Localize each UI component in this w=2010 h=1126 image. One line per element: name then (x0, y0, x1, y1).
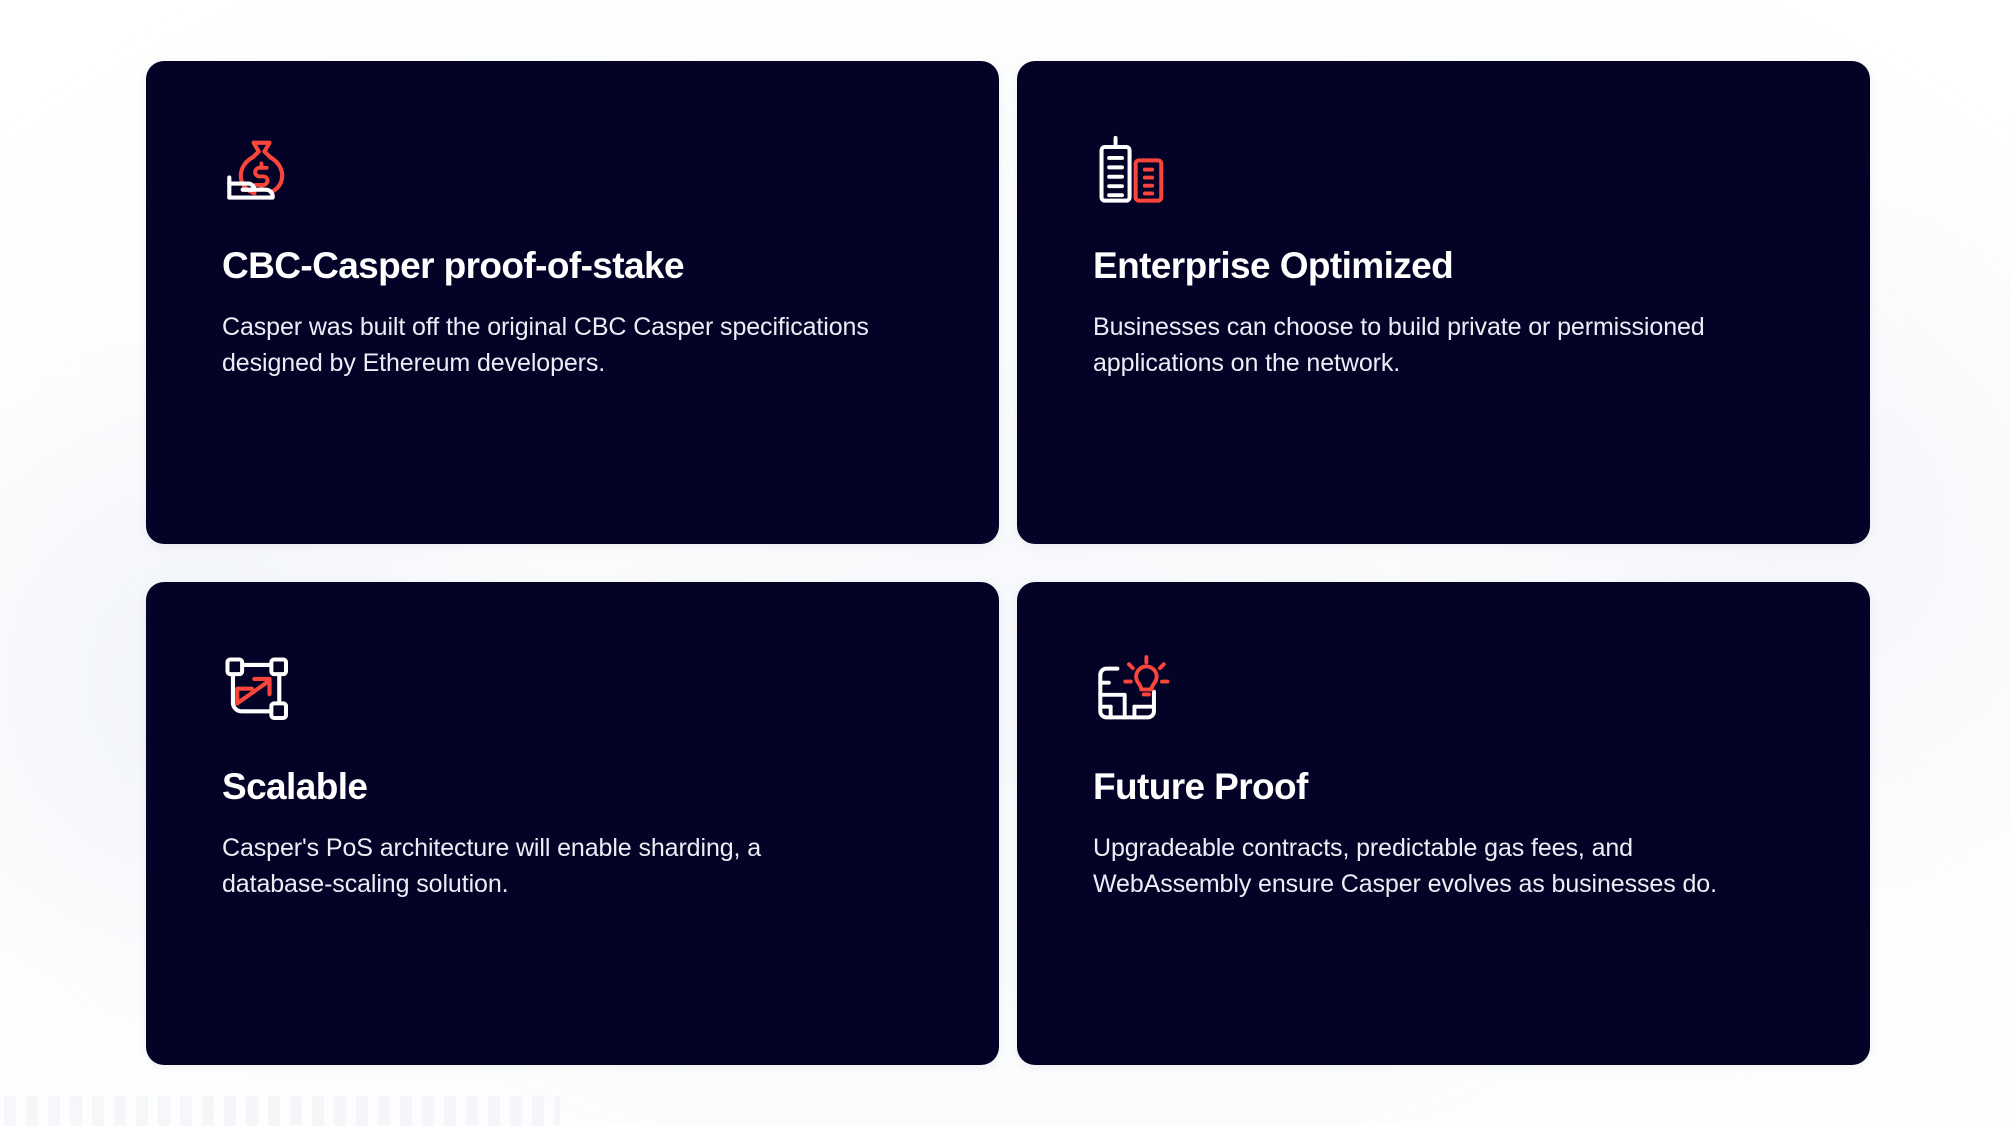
card-description: Businesses can choose to build private o… (1093, 310, 1773, 381)
feature-card-future-proof[interactable]: Future Proof Upgradeable contracts, pred… (1017, 582, 1870, 1065)
scale-expand-arrow-icon (222, 654, 300, 732)
blueprint-lightbulb-icon (1093, 654, 1171, 732)
card-title: Future Proof (1093, 766, 1794, 807)
feature-card-scalable[interactable]: Scalable Casper's PoS architecture will … (146, 582, 999, 1065)
feature-card-grid: CBC-Casper proof-of-stake Casper was bui… (146, 61, 1870, 1065)
card-title: Enterprise Optimized (1093, 245, 1794, 286)
feature-card-cbc-casper[interactable]: CBC-Casper proof-of-stake Casper was bui… (146, 61, 999, 544)
bottom-decorative-pattern (0, 1096, 560, 1126)
office-buildings-icon (1093, 133, 1171, 211)
card-description: Casper's PoS architecture will enable sh… (222, 831, 862, 902)
money-bag-in-hand-icon (222, 133, 300, 211)
features-page: CBC-Casper proof-of-stake Casper was bui… (0, 0, 2010, 1126)
card-title: CBC-Casper proof-of-stake (222, 245, 923, 286)
feature-card-enterprise-optimized[interactable]: Enterprise Optimized Businesses can choo… (1017, 61, 1870, 544)
card-description: Upgradeable contracts, predictable gas f… (1093, 831, 1773, 902)
card-description: Casper was built off the original CBC Ca… (222, 310, 912, 381)
card-title: Scalable (222, 766, 923, 807)
